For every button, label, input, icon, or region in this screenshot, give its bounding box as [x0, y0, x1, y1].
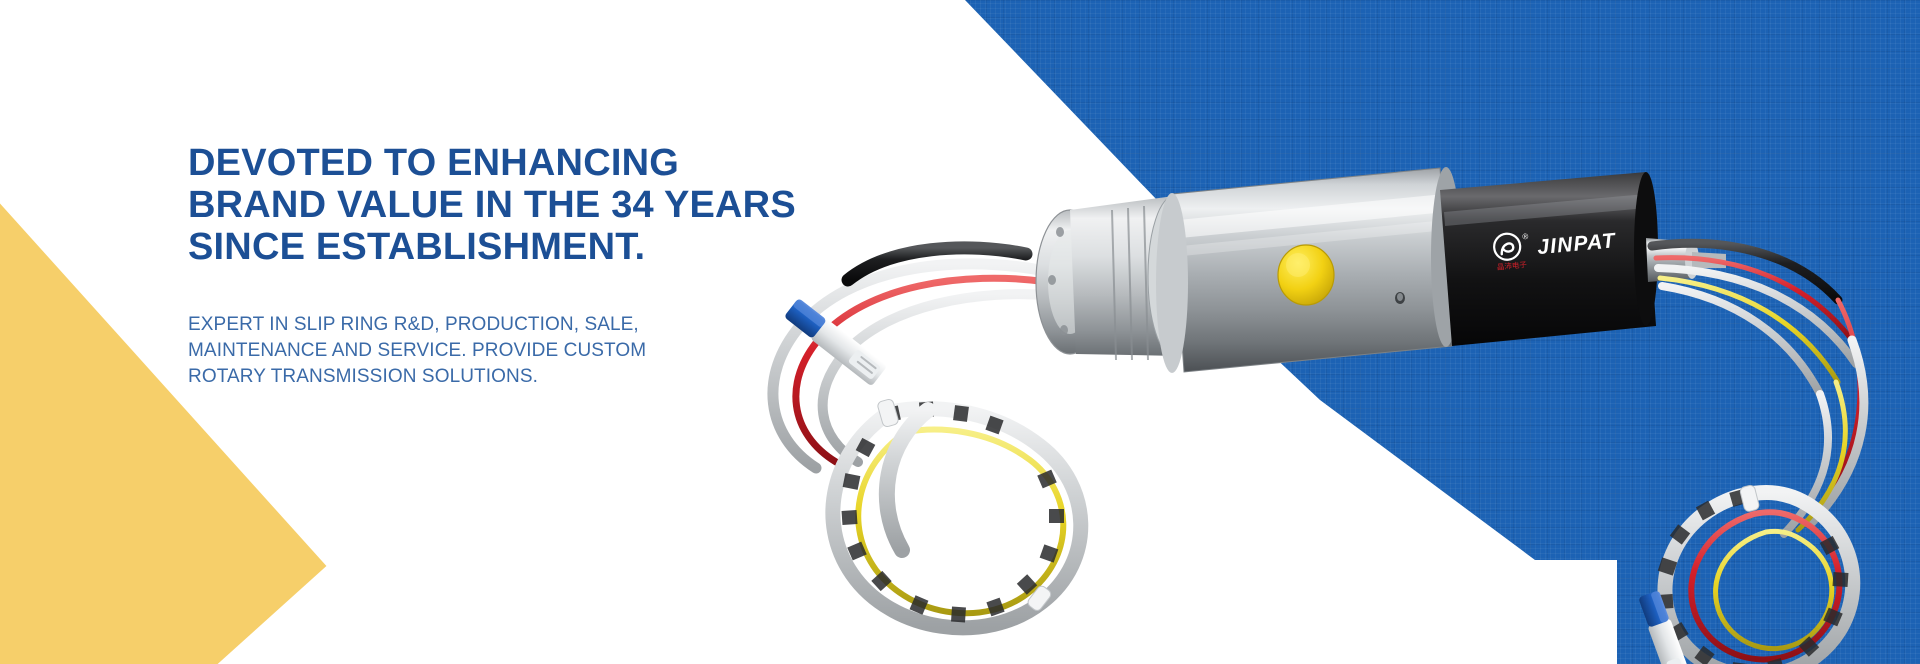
rotor-housing — [1156, 167, 1461, 373]
page-title: DEVOTED TO ENHANCING BRAND VALUE IN THE … — [188, 142, 808, 268]
stator-barrel: ® JINPAT 晶沛电子 — [1440, 172, 1658, 346]
yellow-port-cap — [1278, 245, 1334, 305]
subcopy-line-3: ROTARY TRANSMISSION SOLUTIONS. — [188, 364, 808, 390]
headline-line-2: BRAND VALUE IN THE 34 YEARS — [188, 184, 808, 226]
headline-line-3: SINCE ESTABLISHMENT. — [188, 226, 808, 268]
hero-banner: DEVOTED TO ENHANCING BRAND VALUE IN THE … — [0, 0, 1920, 664]
subcopy-line-2: MAINTENANCE AND SERVICE. PROVIDE CUSTOM — [188, 338, 808, 364]
registered-symbol: ® — [1522, 232, 1529, 241]
copy-block: DEVOTED TO ENHANCING BRAND VALUE IN THE … — [188, 142, 808, 390]
headline-line-1: DEVOTED TO ENHANCING — [188, 142, 808, 184]
cable-bundle-right — [1637, 243, 1864, 664]
subcopy-line-1: EXPERT IN SLIP RING R&D, PRODUCTION, SAL… — [188, 312, 808, 338]
cable-bundle-left — [773, 248, 1081, 628]
subtitle-text: EXPERT IN SLIP RING R&D, PRODUCTION, SAL… — [188, 268, 808, 390]
product-image: ® JINPAT 晶沛电子 — [740, 150, 1920, 664]
